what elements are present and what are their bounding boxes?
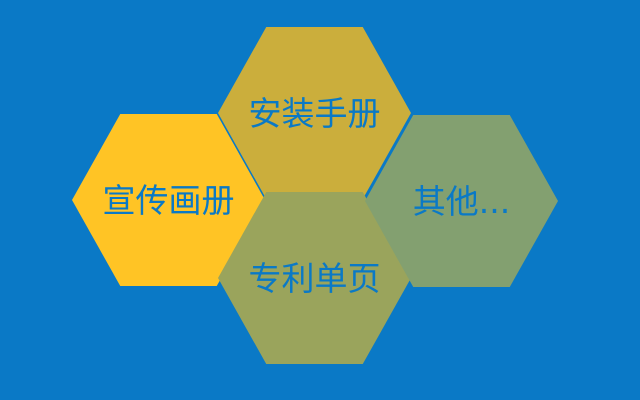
hex-label-patent: 专利单页	[249, 262, 381, 295]
hex-label-other: 其他...	[413, 185, 510, 218]
diagram-canvas: 宣传画册 安装手册 专利单页 其他...	[0, 0, 640, 400]
hex-label-manual: 安装手册	[249, 97, 381, 130]
hex-label-promo: 宣传画册	[103, 184, 235, 217]
